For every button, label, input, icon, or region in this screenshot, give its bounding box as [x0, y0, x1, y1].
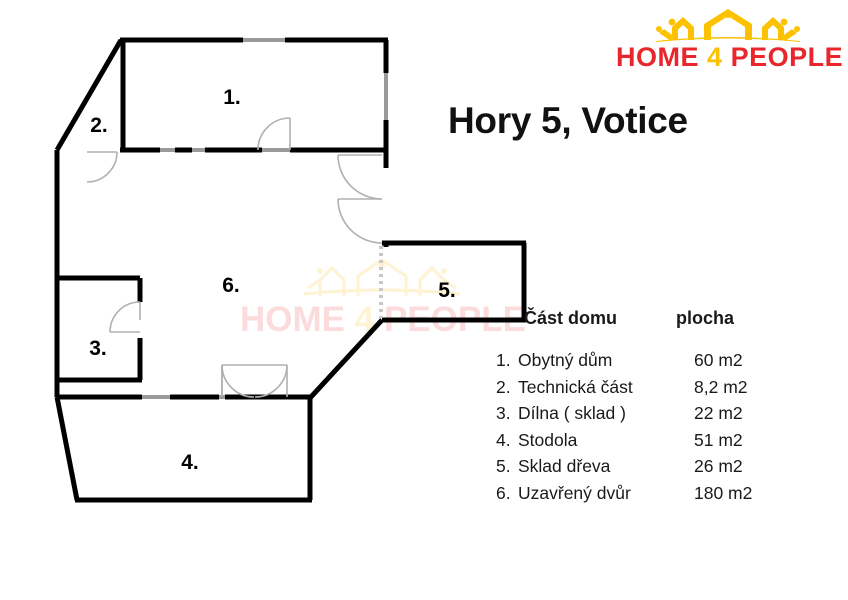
legend-row: 4. Stodola 51 m2	[496, 430, 826, 457]
room-2-door-arc	[87, 152, 117, 182]
room-1-walls	[120, 40, 388, 150]
room-4-double-door-arcs	[222, 365, 287, 397]
legend-row: 6. Uzavřený dvůr 180 m2	[496, 483, 826, 510]
logo-text-four: 4	[707, 42, 723, 72]
brand-logo: HOME 4 PEOPLE	[616, 8, 840, 80]
legend-header-row: Část domu plocha	[496, 308, 826, 338]
legend-row-area: 180 m2	[694, 483, 752, 504]
room-2-walls	[57, 40, 121, 150]
legend-row-number: 3.	[496, 403, 518, 424]
logo-text-people: PEOPLE	[731, 42, 844, 72]
crown-of-houses-icon	[652, 8, 804, 42]
legend-row-number: 1.	[496, 350, 518, 371]
legend-header-part: Část domu	[524, 308, 617, 329]
room-label-5: 5.	[438, 279, 456, 302]
room-label-3: 3.	[89, 337, 107, 360]
room-1-door-arc	[258, 118, 290, 150]
brand-logo-text: HOME 4 PEOPLE	[616, 42, 840, 73]
legend-row-number: 2.	[496, 377, 518, 398]
floor-plan-page: HOME 4 PEOPLE	[0, 0, 848, 600]
legend-row-name: Dílna ( sklad )	[518, 403, 626, 424]
room-4-walls	[57, 397, 312, 500]
legend-row-name: Technická část	[518, 377, 633, 398]
legend-row-area: 26 m2	[694, 456, 743, 477]
page-title: Hory 5, Votice	[448, 100, 688, 142]
room-label-6: 6.	[222, 274, 240, 297]
legend-row-area: 22 m2	[694, 403, 743, 424]
legend-row-name: Sklad dřeva	[518, 456, 610, 477]
room-3-door-arc	[110, 302, 140, 332]
legend-row-number: 4.	[496, 430, 518, 451]
legend-row: 1. Obytný dům 60 m2	[496, 350, 826, 377]
room-label-4: 4.	[181, 451, 199, 474]
legend-rows: 1. Obytný dům 60 m2 2. Technická část 8,…	[496, 350, 826, 509]
room-3-walls	[55, 278, 142, 380]
legend-row: 5. Sklad dřeva 26 m2	[496, 456, 826, 483]
legend-header-area: plocha	[676, 308, 734, 329]
courtyard-door-arcs	[338, 155, 382, 243]
room-label-2: 2.	[90, 114, 108, 137]
legend-row: 2. Technická část 8,2 m2	[496, 377, 826, 404]
legend-row-area: 51 m2	[694, 430, 743, 451]
logo-text-home: HOME	[616, 42, 699, 72]
legend-row-area: 60 m2	[694, 350, 743, 371]
floor-plan-drawing: 1. 2. 3. 4. 5. 6.	[0, 0, 848, 600]
legend-row-area: 8,2 m2	[694, 377, 748, 398]
legend-row: 3. Dílna ( sklad ) 22 m2	[496, 403, 826, 430]
legend-row-name: Obytný dům	[518, 350, 612, 371]
legend-row-name: Uzavřený dvůr	[518, 483, 631, 504]
legend-table: Část domu plocha 1. Obytný dům 60 m2 2. …	[496, 308, 826, 509]
legend-row-number: 5.	[496, 456, 518, 477]
room-label-1: 1.	[223, 86, 241, 109]
legend-row-name: Stodola	[518, 430, 577, 451]
legend-row-number: 6.	[496, 483, 518, 504]
